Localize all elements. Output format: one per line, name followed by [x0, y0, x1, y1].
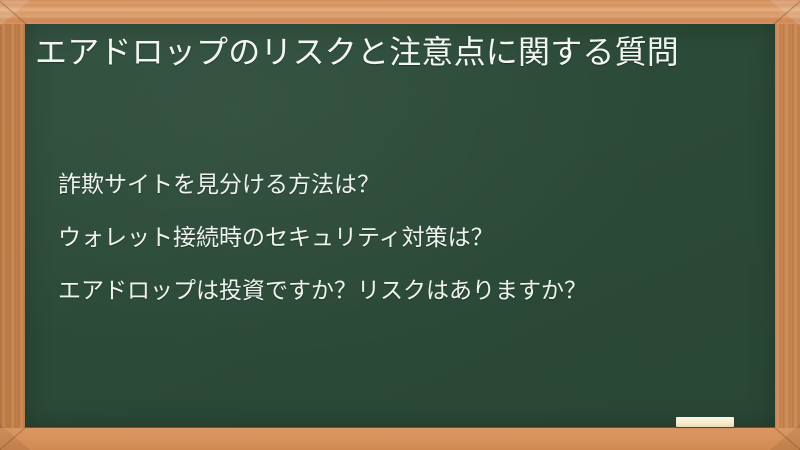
question-list: 詐欺サイトを見分ける方法は？ ウォレット接続時のセキュリティ対策は？ エアドロッ…: [35, 164, 755, 323]
chalk-stick: [676, 417, 734, 427]
chalkboard: エアドロップのリスクと注意点に関する質問 詐欺サイトを見分ける方法は？ ウォレッ…: [25, 24, 775, 426]
list-item: 詐欺サイトを見分ける方法は？: [35, 164, 755, 204]
list-item: エアドロップは投資ですか？リスクはありますか？: [35, 270, 755, 310]
list-item: ウォレット接続時のセキュリティ対策は？: [35, 217, 755, 257]
frame-top-rail: [0, 0, 800, 24]
wooden-frame: エアドロップのリスクと注意点に関する質問 詐欺サイトを見分ける方法は？ ウォレッ…: [0, 0, 800, 450]
page-title: エアドロップのリスクと注意点に関する質問: [35, 30, 745, 75]
frame-bottom-rail: [0, 428, 800, 450]
